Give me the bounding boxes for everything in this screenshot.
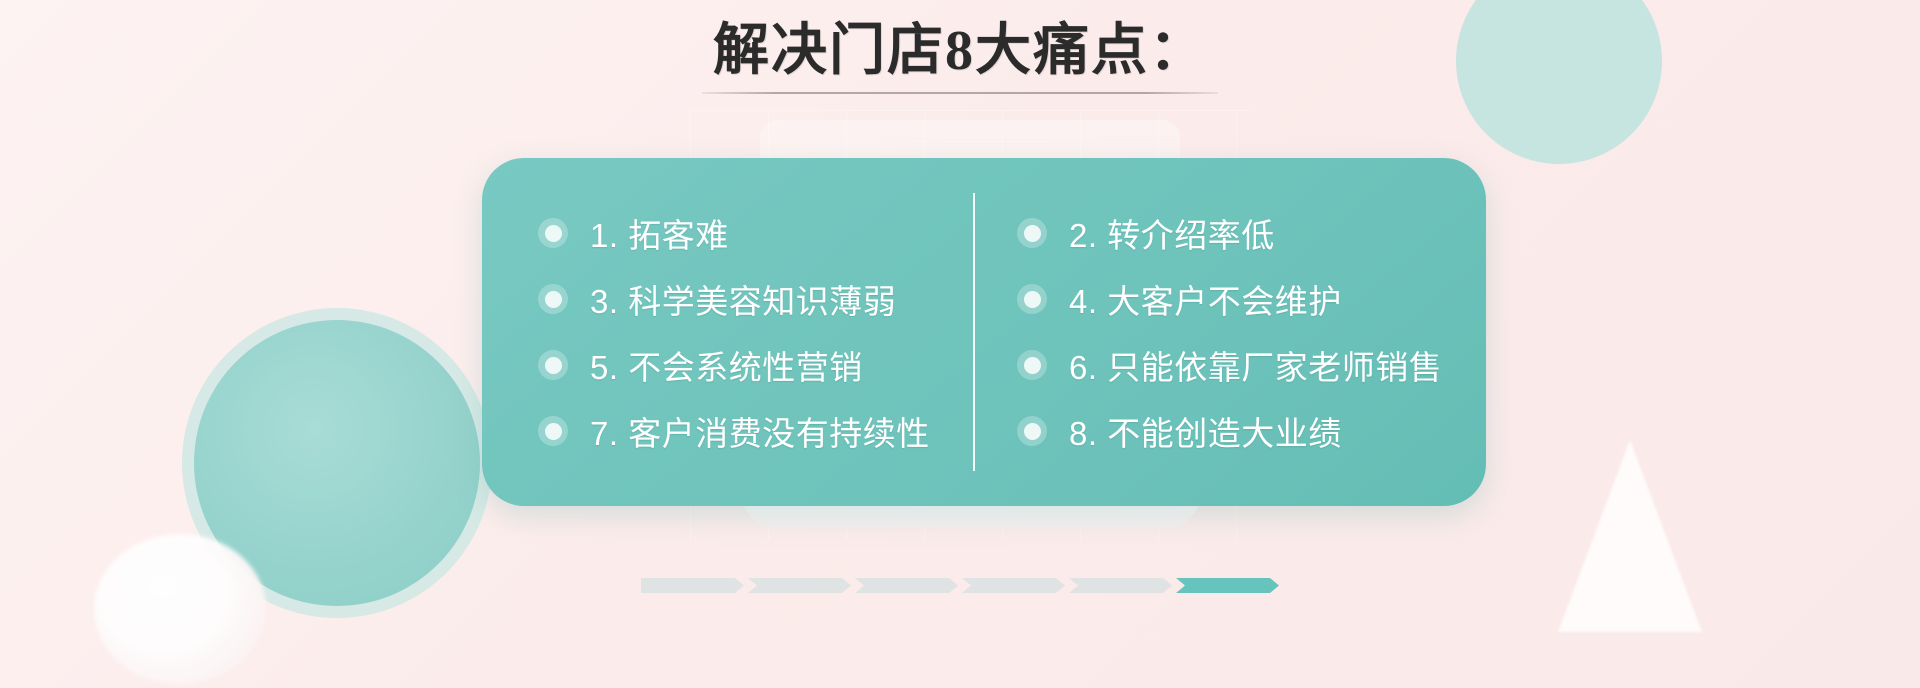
page-title: 解决门店8大痛点：	[711, 16, 1209, 90]
list-item: 6. 只能依靠厂家老师销售	[1017, 332, 1452, 398]
progress-segment-4[interactable]	[962, 578, 1065, 593]
pain-points-card: 1. 拓客难 3. 科学美容知识薄弱 5. 不会系统性营销 7. 客户消费没有持…	[482, 158, 1486, 506]
list-item: 2. 转介绍率低	[1017, 200, 1452, 266]
progress-segment-6[interactable]	[1176, 578, 1279, 593]
list-item-label: 5. 不会系统性营销	[590, 341, 863, 389]
progress-segment-3[interactable]	[855, 578, 958, 593]
bullet-circle-icon	[538, 218, 568, 248]
list-item: 1. 拓客难	[538, 200, 973, 266]
progress-segment-2[interactable]	[748, 578, 851, 593]
bullet-circle-icon	[538, 284, 568, 314]
list-item: 8. 不能创造大业绩	[1017, 398, 1452, 464]
decorative-sphere	[94, 534, 266, 684]
list-item-label: 8. 不能创造大业绩	[1069, 407, 1342, 455]
title-underline	[702, 92, 1218, 94]
slide-canvas: 解决门店8大痛点： 1. 拓客难 3. 科学美容知识薄弱 5. 不会系统性营销 …	[0, 0, 1920, 688]
bullet-circle-icon	[538, 350, 568, 380]
bullet-circle-icon	[1017, 416, 1047, 446]
list-item: 3. 科学美容知识薄弱	[538, 266, 973, 332]
pain-points-right-column: 2. 转介绍率低 4. 大客户不会维护 6. 只能依靠厂家老师销售 8. 不能创…	[975, 176, 1452, 488]
list-item-label: 2. 转介绍率低	[1069, 209, 1275, 257]
page-title-container: 解决门店8大痛点：	[0, 16, 1920, 94]
decorative-circle-ring-bottom-left	[182, 308, 492, 618]
decorative-circle-bottom-left	[194, 320, 480, 606]
pain-points-left-column: 1. 拓客难 3. 科学美容知识薄弱 5. 不会系统性营销 7. 客户消费没有持…	[516, 176, 973, 488]
list-item-label: 7. 客户消费没有持续性	[590, 407, 930, 455]
progress-segment-1[interactable]	[641, 578, 744, 593]
slide-progress-indicator[interactable]	[641, 578, 1279, 593]
list-item-label: 1. 拓客难	[590, 209, 729, 257]
list-item: 7. 客户消费没有持续性	[538, 398, 973, 464]
list-item: 5. 不会系统性营销	[538, 332, 973, 398]
bullet-circle-icon	[1017, 218, 1047, 248]
bullet-circle-icon	[1017, 350, 1047, 380]
list-item-label: 4. 大客户不会维护	[1069, 275, 1342, 323]
list-item-label: 6. 只能依靠厂家老师销售	[1069, 341, 1442, 389]
decorative-cone	[1558, 440, 1702, 632]
list-item: 4. 大客户不会维护	[1017, 266, 1452, 332]
bullet-circle-icon	[538, 416, 568, 446]
bullet-circle-icon	[1017, 284, 1047, 314]
list-item-label: 3. 科学美容知识薄弱	[590, 275, 896, 323]
progress-segment-5[interactable]	[1069, 578, 1172, 593]
